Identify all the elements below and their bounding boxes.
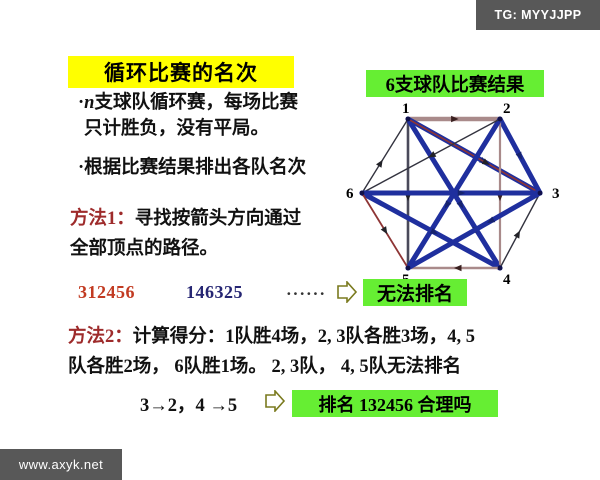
block-arrow-icon-2 xyxy=(264,390,286,412)
graph-vertex-6 xyxy=(360,191,365,196)
graph-title-text: 6支球队比赛结果 xyxy=(386,71,525,97)
site-watermark-text: www.axyk.net xyxy=(19,457,103,472)
telegram-watermark-text: TG: MYYJJPP xyxy=(494,8,581,22)
method-2-text-1: 计算得分：1队胜4场，2, 3队各胜3场，4, 5 xyxy=(133,327,475,347)
variable-n: n xyxy=(84,93,94,113)
conclusion-text: 3→2，4 →5 xyxy=(140,391,237,417)
site-watermark: www.axyk.net xyxy=(0,449,122,480)
bullet-2-line-1: ·根据比赛结果排出各队名次 xyxy=(78,158,306,179)
graph-vertex-label-2: 2 xyxy=(503,101,511,117)
method-1-text-1: 寻找按箭头方向通过 xyxy=(135,209,302,229)
graph-vertex-label-3: 3 xyxy=(552,186,560,202)
bullet-1-line-1: ·n支球队循环赛，每场比赛 xyxy=(78,93,298,114)
graph-edge-arrow-6-1 xyxy=(376,160,383,168)
graph-title-box: 6支球队比赛结果 xyxy=(366,70,544,97)
final-ranking-text: 排名 132456 合理吗 xyxy=(319,391,472,417)
method-1-line-2: 全部顶点的路径。 xyxy=(70,234,218,260)
method-1-label: 方法1： xyxy=(70,209,135,229)
no-ranking-text: 无法排名 xyxy=(377,279,453,306)
graph-vertex-label-4: 4 xyxy=(503,272,511,288)
graph-vertex-5 xyxy=(406,266,411,271)
sequence-first: 312456 xyxy=(78,282,135,303)
method-2-line-2: 队各胜2场， 6队胜1场。 2, 3队， 4, 5队无法排名 xyxy=(68,352,461,378)
slide-title-banner: 循环比赛的名次 xyxy=(68,56,294,88)
graph-edge-arrow-5-4 xyxy=(454,265,462,271)
graph-svg: 123456 xyxy=(340,100,590,290)
graph-vertex-4 xyxy=(498,266,503,271)
sequence-ellipsis: ······ xyxy=(286,284,326,304)
graph-edge-6-1 xyxy=(362,119,408,193)
no-ranking-box: 无法排名 xyxy=(363,279,467,306)
graph-vertex-2 xyxy=(498,117,503,122)
bullet-1-text: 支球队循环赛，每场比赛 xyxy=(94,93,298,113)
tournament-graph: 123456 xyxy=(340,100,590,290)
block-arrow-icon-1 xyxy=(336,281,358,303)
graph-vertex-label-1: 1 xyxy=(402,101,410,117)
telegram-watermark: TG: MYYJJPP xyxy=(476,0,600,30)
slide-title-text: 循环比赛的名次 xyxy=(104,57,258,87)
bullet-1-line-2: 只计胜负，没有平局。 xyxy=(84,119,269,140)
final-ranking-box: 排名 132456 合理吗 xyxy=(292,390,498,417)
graph-vertex-1 xyxy=(406,117,411,122)
method-2-line-1: 方法2：计算得分：1队胜4场，2, 3队各胜3场，4, 5 xyxy=(68,322,475,348)
method-2-label: 方法2： xyxy=(68,327,133,347)
graph-vertex-label-6: 6 xyxy=(346,186,354,202)
graph-edge-layer xyxy=(362,116,540,271)
slide-canvas: 123456 6支球队比赛结果 循环比赛的名次 ·n支球队循环赛，每场比赛 只计… xyxy=(0,0,600,480)
bullet-2-text: 根据比赛结果排出各队名次 xyxy=(84,158,306,178)
graph-vertex-3 xyxy=(538,191,543,196)
sequence-second: 146325 xyxy=(186,282,243,303)
method-1-line-1: 方法1：寻找按箭头方向通过 xyxy=(70,204,301,230)
